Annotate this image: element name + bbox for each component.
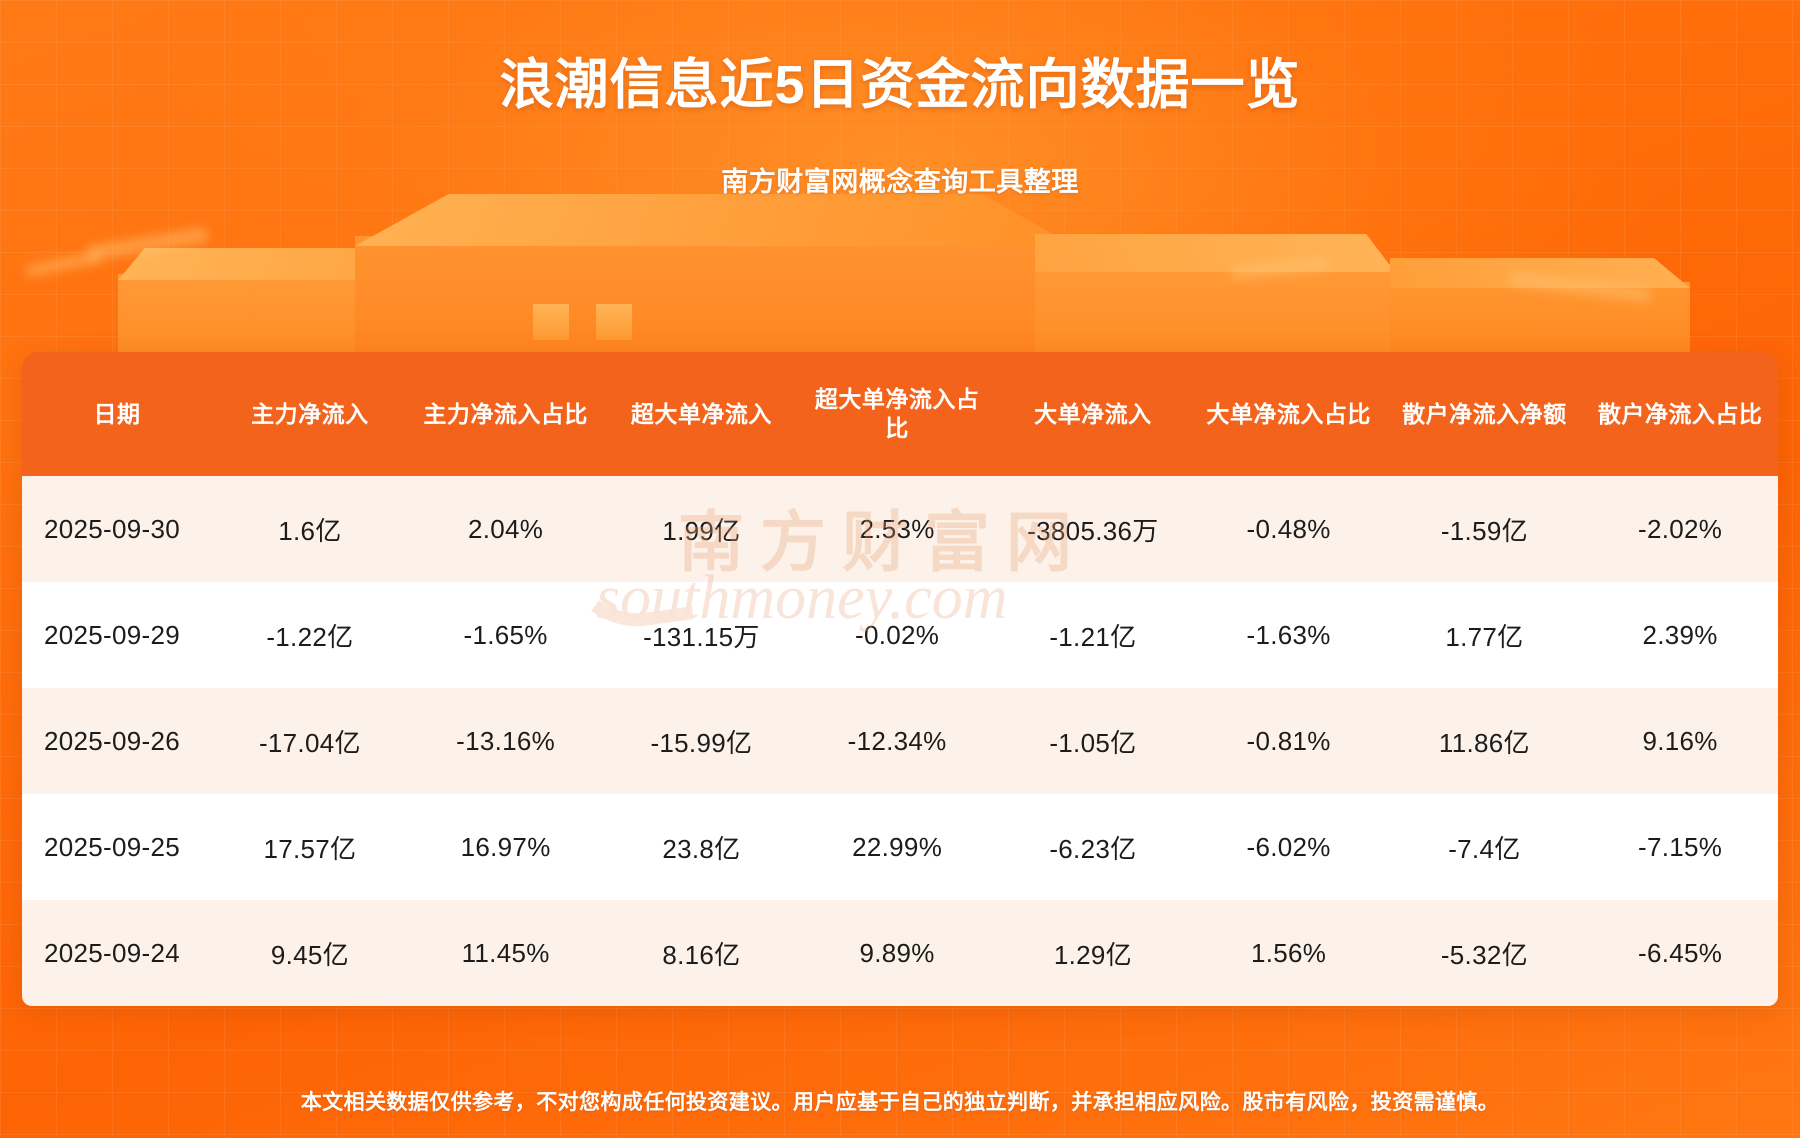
- column-header-date: 日期: [22, 352, 212, 476]
- podium-block-right: [1035, 234, 1395, 364]
- table-row: 2025-09-26 -17.04亿 -13.16% -15.99亿 -12.3…: [22, 688, 1778, 794]
- cell-lg-pct: -6.02%: [1191, 794, 1387, 900]
- cell-main-net: 1.6亿: [212, 476, 408, 582]
- column-header-lg-net: 大单净流入: [995, 352, 1191, 476]
- column-header-main-pct: 主力净流入占比: [408, 352, 604, 476]
- table-row: 2025-09-29 -1.22亿 -1.65% -131.15万 -0.02%…: [22, 582, 1778, 688]
- column-header-lg-pct: 大单净流入占比: [1191, 352, 1387, 476]
- cell-date: 2025-09-29: [22, 582, 212, 688]
- cell-main-net: 17.57亿: [212, 794, 408, 900]
- cell-xl-pct: 2.53%: [799, 476, 995, 582]
- podium-block-center: [355, 194, 1075, 362]
- column-header-retail-net: 散户净流入净额: [1387, 352, 1583, 476]
- cell-lg-net: -3805.36万: [995, 476, 1191, 582]
- podium-block-far-right: [1390, 258, 1690, 364]
- cell-retail-pct: 2.39%: [1582, 582, 1778, 688]
- cell-retail-pct: -2.02%: [1582, 476, 1778, 582]
- cell-xl-net: 8.16亿: [604, 900, 800, 1006]
- cell-main-net: -17.04亿: [212, 688, 408, 794]
- cell-xl-pct: 9.89%: [799, 900, 995, 1006]
- table-header: 日期 主力净流入 主力净流入占比 超大单净流入 超大单净流入占比 大单净流入 大…: [22, 352, 1778, 476]
- cell-date: 2025-09-25: [22, 794, 212, 900]
- cell-retail-net: -5.32亿: [1387, 900, 1583, 1006]
- column-header-xl-net: 超大单净流入: [604, 352, 800, 476]
- cell-lg-net: -1.21亿: [995, 582, 1191, 688]
- cell-main-net: -1.22亿: [212, 582, 408, 688]
- poster-root: 浪潮信息近5日资金流向数据一览 南方财富网概念查询工具整理 日期 主力净流入 主…: [0, 0, 1800, 1138]
- cell-main-pct: -1.65%: [408, 582, 604, 688]
- cell-xl-net: -131.15万: [604, 582, 800, 688]
- page-subtitle: 南方财富网概念查询工具整理: [0, 160, 1800, 199]
- podium-nub-b: [596, 304, 632, 340]
- cell-lg-pct: -0.81%: [1191, 688, 1387, 794]
- cell-main-pct: 11.45%: [408, 900, 604, 1006]
- cell-xl-pct: -0.02%: [799, 582, 995, 688]
- cell-retail-net: -7.4亿: [1387, 794, 1583, 900]
- cell-xl-net: -15.99亿: [604, 688, 800, 794]
- disclaimer-text: 本文相关数据仅供参考，不对您构成任何投资建议。用户应基于自己的独立判断，并承担相…: [0, 1086, 1800, 1116]
- cell-xl-net: 23.8亿: [604, 794, 800, 900]
- data-table-card: 日期 主力净流入 主力净流入占比 超大单净流入 超大单净流入占比 大单净流入 大…: [22, 352, 1778, 1006]
- cell-main-net: 9.45亿: [212, 900, 408, 1006]
- page-title: 浪潮信息近5日资金流向数据一览: [0, 40, 1800, 119]
- cell-date: 2025-09-24: [22, 900, 212, 1006]
- cell-retail-net: 1.77亿: [1387, 582, 1583, 688]
- table-row: 2025-09-24 9.45亿 11.45% 8.16亿 9.89% 1.29…: [22, 900, 1778, 1006]
- table-row: 2025-09-30 1.6亿 2.04% 1.99亿 2.53% -3805.…: [22, 476, 1778, 582]
- cell-retail-net: 11.86亿: [1387, 688, 1583, 794]
- podium-nub-a: [533, 304, 569, 340]
- cell-xl-net: 1.99亿: [604, 476, 800, 582]
- table-row: 2025-09-25 17.57亿 16.97% 23.8亿 22.99% -6…: [22, 794, 1778, 900]
- cell-retail-net: -1.59亿: [1387, 476, 1583, 582]
- column-header-retail-pct: 散户净流入占比: [1582, 352, 1778, 476]
- cell-xl-pct: 22.99%: [799, 794, 995, 900]
- cell-retail-pct: -7.15%: [1582, 794, 1778, 900]
- fund-flow-table: 日期 主力净流入 主力净流入占比 超大单净流入 超大单净流入占比 大单净流入 大…: [22, 352, 1778, 1006]
- cell-date: 2025-09-30: [22, 476, 212, 582]
- column-header-main-net: 主力净流入: [212, 352, 408, 476]
- column-header-xl-pct: 超大单净流入占比: [799, 352, 995, 476]
- cell-lg-pct: 1.56%: [1191, 900, 1387, 1006]
- cell-lg-net: -6.23亿: [995, 794, 1191, 900]
- cell-date: 2025-09-26: [22, 688, 212, 794]
- cell-main-pct: 2.04%: [408, 476, 604, 582]
- cell-lg-net: -1.05亿: [995, 688, 1191, 794]
- cell-main-pct: -13.16%: [408, 688, 604, 794]
- cell-retail-pct: -6.45%: [1582, 900, 1778, 1006]
- cell-main-pct: 16.97%: [408, 794, 604, 900]
- cell-lg-pct: -1.63%: [1191, 582, 1387, 688]
- header-row: 日期 主力净流入 主力净流入占比 超大单净流入 超大单净流入占比 大单净流入 大…: [22, 352, 1778, 476]
- cell-lg-pct: -0.48%: [1191, 476, 1387, 582]
- cell-xl-pct: -12.34%: [799, 688, 995, 794]
- table-body: 2025-09-30 1.6亿 2.04% 1.99亿 2.53% -3805.…: [22, 476, 1778, 1006]
- cell-retail-pct: 9.16%: [1582, 688, 1778, 794]
- cell-lg-net: 1.29亿: [995, 900, 1191, 1006]
